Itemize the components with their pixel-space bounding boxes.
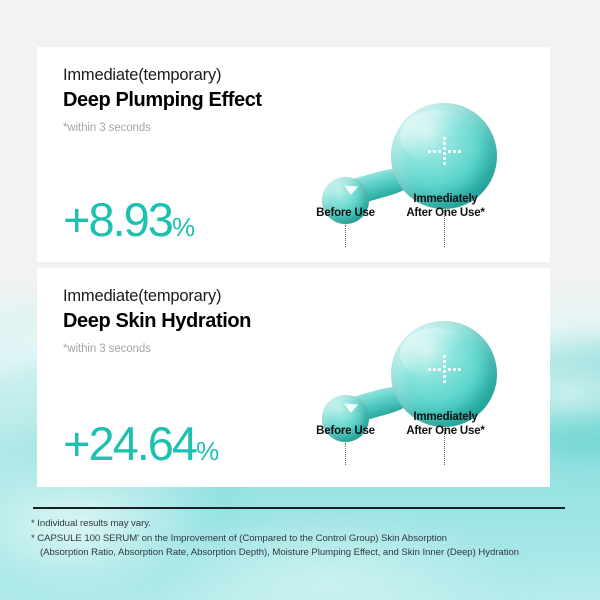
droplet-highlight-triangle bbox=[344, 186, 359, 196]
before-use-text: Before Use bbox=[316, 207, 375, 219]
after-use-line1: Immediately bbox=[413, 411, 477, 423]
plus-symbol-icon bbox=[425, 353, 465, 393]
claim-card-hydration: Immediate(temporary) Deep Skin Hydration… bbox=[37, 268, 550, 487]
plus-symbol-icon bbox=[425, 135, 465, 175]
claim-card-plumping: Immediate(temporary) Deep Plumping Effec… bbox=[37, 47, 550, 262]
after-use-line2: After One Use* bbox=[406, 425, 484, 437]
label-before-use: Before Use bbox=[293, 425, 398, 439]
card-subnote: *within 3 seconds bbox=[63, 122, 262, 134]
footnote-line-2: * CAPSULE 100 SERUM' on the Improvement … bbox=[31, 532, 576, 547]
footnotes-block: * Individual results may vary. * CAPSULE… bbox=[31, 517, 576, 561]
card-headline: Deep Skin Hydration bbox=[63, 308, 251, 334]
infographic-root: Immediate(temporary) Deep Plumping Effec… bbox=[0, 0, 600, 600]
metric-number: +8.93 bbox=[63, 193, 172, 246]
metric-percent-sign: % bbox=[172, 212, 194, 242]
card-subnote: *within 3 seconds bbox=[63, 343, 251, 355]
card-eyebrow: Immediate(temporary) bbox=[63, 65, 262, 86]
footnote-line-1: * Individual results may vary. bbox=[31, 517, 576, 532]
metric-value-hydration: +24.64% bbox=[63, 420, 218, 467]
droplet-comparison-graphic: Before Use Immediately After One Use* bbox=[298, 268, 538, 487]
card-eyebrow: Immediate(temporary) bbox=[63, 286, 251, 307]
leader-line-before bbox=[345, 443, 346, 465]
card-text-block: Immediate(temporary) Deep Plumping Effec… bbox=[63, 65, 262, 134]
label-before-use: Before Use bbox=[293, 207, 398, 221]
droplet-comparison-graphic: Before Use Immediately After One Use* bbox=[298, 47, 538, 262]
label-after-one-use: Immediately After One Use* bbox=[393, 411, 498, 438]
footer-divider bbox=[33, 507, 565, 509]
footnote-line-3: (Absorption Ratio, Absorption Rate, Abso… bbox=[31, 546, 576, 561]
after-use-line1: Immediately bbox=[413, 193, 477, 205]
metric-value-plumping: +8.93% bbox=[63, 196, 194, 243]
leader-line-before bbox=[345, 225, 346, 247]
label-after-one-use: Immediately After One Use* bbox=[393, 193, 498, 220]
before-use-text: Before Use bbox=[316, 425, 375, 437]
metric-number: +24.64 bbox=[63, 417, 196, 470]
droplet-highlight-triangle bbox=[344, 404, 359, 414]
card-text-block: Immediate(temporary) Deep Skin Hydration… bbox=[63, 286, 251, 355]
card-headline: Deep Plumping Effect bbox=[63, 87, 262, 113]
metric-percent-sign: % bbox=[196, 436, 218, 466]
after-use-line2: After One Use* bbox=[406, 207, 484, 219]
